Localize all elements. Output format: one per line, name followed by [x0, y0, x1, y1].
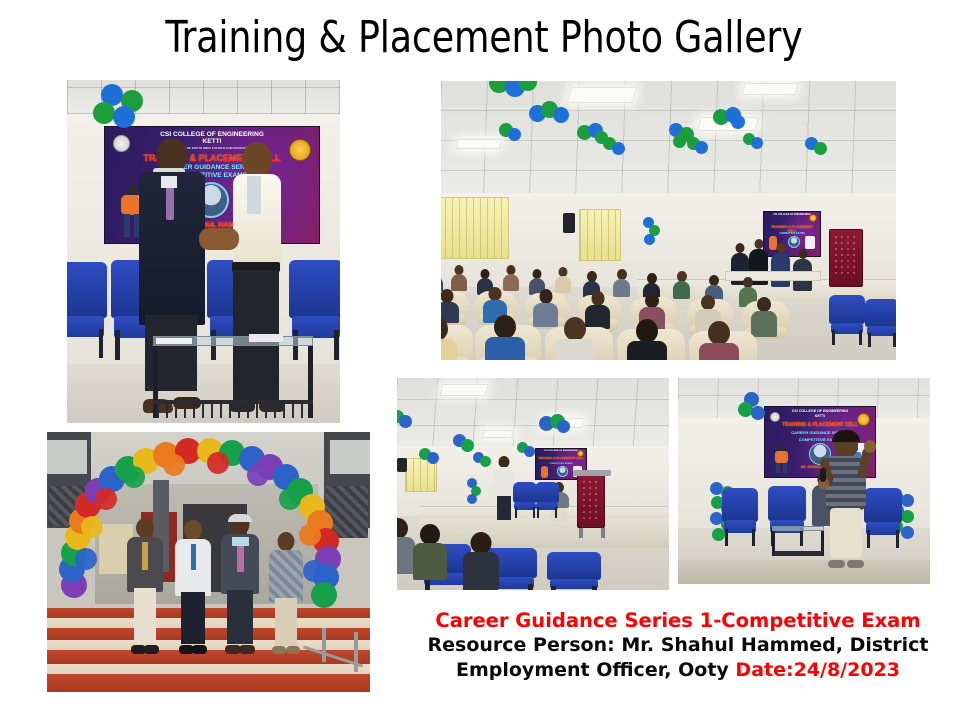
- audience-foreground: [397, 518, 607, 590]
- chair: [513, 482, 537, 518]
- balloon-cluster-icon: [529, 101, 573, 135]
- chair: [547, 552, 601, 590]
- student: [463, 532, 499, 590]
- caption-designation: Employment Officer, Ooty: [456, 659, 735, 681]
- caption-event-title: Career Guidance Series 1-Competitive Exa…: [398, 608, 958, 633]
- chair: [67, 262, 107, 358]
- person-faculty: [221, 514, 259, 654]
- balloon-cluster-icon: [517, 442, 539, 460]
- chair: [722, 488, 758, 546]
- balloon-cluster-icon: [687, 137, 711, 157]
- person-student: [269, 532, 303, 654]
- student: [613, 269, 630, 297]
- balloon-cluster-icon: [805, 137, 831, 159]
- student: [485, 315, 525, 360]
- caption-date: Date:24/8/2023: [735, 659, 900, 681]
- photo-resource-person: CSI COLLEGE OF ENGINEERING KETTI TRAININ…: [678, 378, 930, 584]
- microphone-icon: [820, 468, 826, 482]
- balloon-cluster-icon: [738, 392, 768, 426]
- page-title: Training & Placement Photo Gallery: [39, 12, 930, 63]
- balloon-cluster-icon: [91, 84, 147, 134]
- balloon-cluster-icon: [643, 217, 663, 249]
- student: [451, 265, 467, 291]
- chair: [829, 295, 865, 345]
- window-blinds: [441, 197, 509, 259]
- photo-audience-hall: CSI COLLEGE OF ENGINEERING TRAINING & PL…: [441, 81, 896, 360]
- person-speaker: [493, 456, 515, 522]
- balloon-cluster-icon: [539, 414, 571, 438]
- glass-table: [153, 336, 313, 418]
- audience-rows: [441, 263, 836, 360]
- photo-speaker-stage: CSI COLLEGE OF ENGINEERING TRAINING & PL…: [397, 378, 669, 590]
- person-resource-speaker: [820, 432, 872, 568]
- student: [673, 271, 690, 299]
- balloon-cluster-icon: [419, 448, 443, 468]
- student: [555, 317, 595, 360]
- chair: [535, 482, 559, 518]
- student: [413, 524, 447, 580]
- caption-resource-person: Resource Person: Mr. Shahul Hammed, Dist…: [398, 633, 958, 658]
- banner-headline: TRAINING & PLACEMENT CELL: [769, 423, 870, 428]
- photo-balloon-arch: [47, 432, 370, 692]
- photo-handshake: CSI COLLEGE OF ENGINEERING KETTI (CHURCH…: [67, 80, 340, 423]
- chair: [865, 299, 896, 347]
- banner-headline: TRAINING & PLACEMENT CELL: [538, 457, 584, 460]
- student: [441, 317, 457, 360]
- photo-gallery-slide: Training & Placement Photo Gallery CSI C…: [0, 0, 968, 725]
- window-blinds: [579, 209, 621, 261]
- balloon-cluster-icon: [603, 137, 629, 159]
- caption-block: Career Guidance Series 1-Competitive Exa…: [398, 608, 958, 683]
- glass-table: [772, 526, 824, 556]
- person-faculty: [127, 518, 163, 654]
- caption-designation-date: Employment Officer, Ooty Date:24/8/2023: [398, 658, 958, 683]
- balloon-cluster-icon: [713, 107, 747, 135]
- student: [699, 321, 739, 360]
- wall-speaker-icon: [563, 213, 575, 233]
- balloon-cluster-icon: [743, 133, 767, 153]
- balloon-cluster-icon: [467, 478, 483, 506]
- balloon-cluster-icon: [397, 410, 417, 432]
- balloon-cluster-icon: [473, 452, 495, 470]
- balloon-cluster-icon: [499, 123, 525, 145]
- student: [627, 319, 667, 360]
- person-faculty: [175, 520, 211, 654]
- banner-series-line2: COMPETITIVE EXAMS: [539, 463, 583, 465]
- banner-college-place: KETTI: [772, 415, 869, 419]
- wall-speaker-icon: [397, 458, 407, 472]
